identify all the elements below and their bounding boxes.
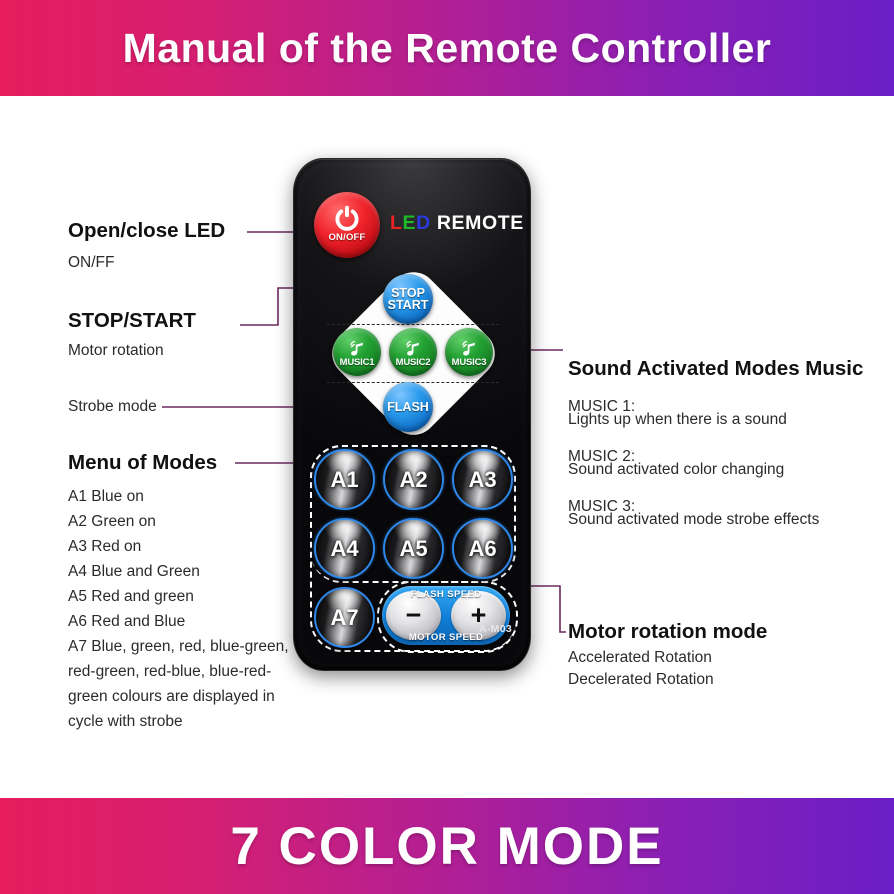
music3-label: MUSIC3: [452, 357, 487, 368]
mode-button-a7[interactable]: A7: [314, 587, 375, 648]
mode-list-item: A7 Blue, green, red, blue-green, red-gre…: [68, 634, 296, 734]
music2-label: MUSIC2: [396, 357, 431, 368]
callout-sound-modes-title: Sound Activated Modes Music: [568, 357, 863, 381]
flash-button[interactable]: FLASH: [383, 382, 433, 432]
wordmark-remote-text: REMOTE: [437, 212, 524, 234]
mode-button-grid: A1 A2 A3 A4 A5 A6: [314, 449, 510, 589]
music2-button[interactable]: MUSIC2: [389, 328, 437, 376]
mode-button-a1[interactable]: A1: [314, 449, 375, 510]
callout-menu-of-modes-title: Menu of Modes: [68, 451, 217, 475]
wordmark-e: E: [403, 212, 417, 234]
speed-control: FLASH SPEED − + MOTOR SPEED: [382, 586, 510, 645]
mode-list: A1 Blue on A2 Green on A3 Red on A4 Blue…: [68, 484, 296, 734]
diamond-button-cluster: STOP START MUSIC1: [322, 262, 504, 444]
music3-button[interactable]: MUSIC3: [445, 328, 493, 376]
music1-button[interactable]: MUSIC1: [333, 328, 381, 376]
callout-strobe-title: Strobe mode: [68, 398, 157, 416]
top-banner: Manual of the Remote Controller: [0, 0, 894, 96]
led-remote-wordmark: LED REMOTE: [390, 212, 524, 235]
mode-button-a2[interactable]: A2: [383, 449, 444, 510]
motor-mode-line-1: Accelerated Rotation: [568, 649, 712, 667]
music-note-icon: [347, 338, 368, 359]
music-note-icon: [459, 338, 480, 359]
mode-button-a4[interactable]: A4: [314, 518, 375, 579]
callout-stop-start-title: STOP/START: [68, 309, 196, 333]
wordmark-l: L: [390, 212, 403, 234]
remote-controller: ON/OFF LED REMOTE STOP START MUSI: [293, 158, 531, 671]
page-title: Manual of the Remote Controller: [123, 25, 772, 72]
callout-motor-mode-title: Motor rotation mode: [568, 620, 767, 644]
mode-button-a6[interactable]: A6: [452, 518, 513, 579]
callout-open-close-title: Open/close LED: [68, 219, 225, 243]
power-icon: [333, 204, 361, 232]
mode-list-item: A4 Blue and Green: [68, 559, 296, 584]
diamond-divider-top: [327, 324, 499, 325]
callout-open-close-sub: ON/FF: [68, 254, 115, 272]
flash-speed-caption: FLASH SPEED: [382, 589, 510, 600]
mode-list-item: A5 Red and green: [68, 584, 296, 609]
mode-list-item: A2 Green on: [68, 509, 296, 534]
mode-button-a5[interactable]: A5: [383, 518, 444, 579]
wordmark-d: D: [416, 212, 431, 234]
flash-button-label: FLASH: [387, 400, 429, 414]
mode-list-item: A3 Red on: [68, 534, 296, 559]
stop-start-line2: START: [388, 299, 429, 312]
music3-desc: Sound activated mode strobe effects: [568, 511, 819, 529]
music-note-icon: [403, 338, 424, 359]
model-number: A-M03: [294, 623, 512, 635]
mode-button-a3[interactable]: A3: [452, 449, 513, 510]
mode-list-item: A1 Blue on: [68, 484, 296, 509]
bottom-banner: 7 COLOR MODE: [0, 798, 894, 894]
power-button-label: ON/OFF: [328, 232, 365, 243]
bottom-banner-title: 7 COLOR MODE: [230, 816, 663, 877]
music2-desc: Sound activated color changing: [568, 461, 784, 479]
callout-stop-start-sub: Motor rotation: [68, 342, 164, 360]
stop-start-button[interactable]: STOP START: [383, 274, 433, 324]
power-button[interactable]: ON/OFF: [314, 192, 380, 258]
music1-label: MUSIC1: [340, 357, 375, 368]
music1-desc: Lights up when there is a sound: [568, 411, 787, 429]
manual-page: Manual of the Remote Controller Open/clo…: [0, 0, 894, 894]
motor-mode-line-2: Decelerated Rotation: [568, 671, 714, 689]
mode-list-item: A6 Red and Blue: [68, 609, 296, 634]
